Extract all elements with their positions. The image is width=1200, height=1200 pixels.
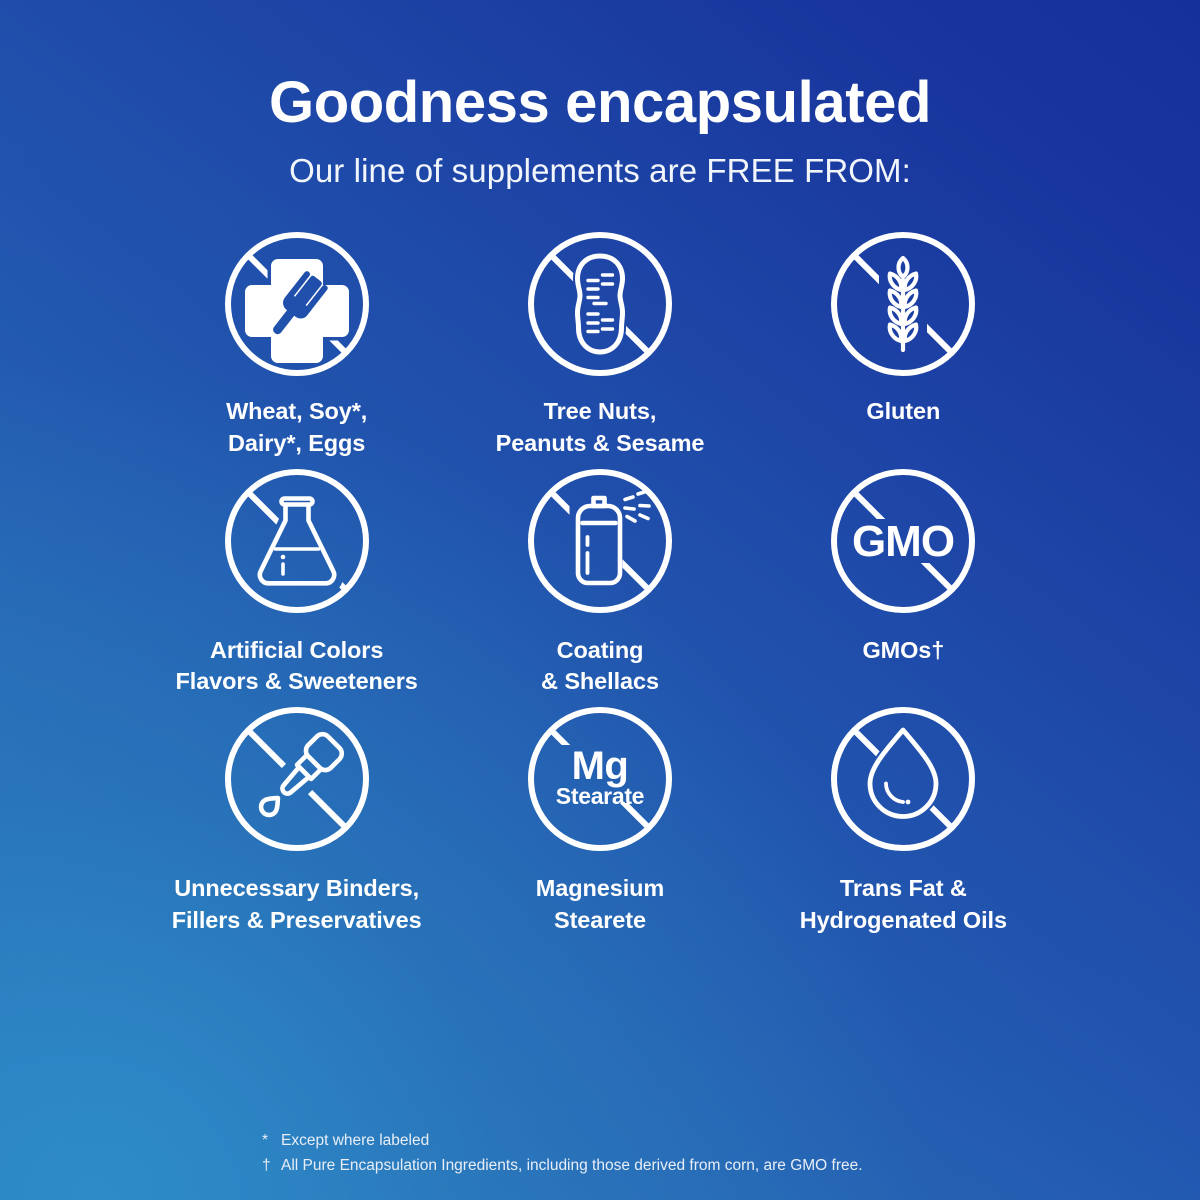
free-from-item-wheat-soy-dairy-eggs: Wheat, Soy*, Dairy*, Eggs [145,228,448,459]
header: Goodness encapsulated Our line of supple… [0,0,1200,190]
free-from-item-magnesium-stearate: Mg Stearate Magnesium Stearete [448,703,751,936]
free-from-item-label: Trans Fat & Hydrogenated Oils [800,873,1007,936]
free-from-item-label: Unnecessary Binders, Fillers & Preservat… [172,873,422,936]
free-from-item-label: Wheat, Soy*, Dairy*, Eggs [226,396,367,459]
footnotes: * Except where labeled † All Pure Encaps… [262,1128,863,1178]
free-from-item-coating-shellacs: Coating & Shellacs [448,465,751,698]
mg-stearate-text-icon: Mg Stearate [524,703,676,855]
free-from-item-unnecessary-binders-fillers-preservatives: Unnecessary Binders, Fillers & Preservat… [145,703,448,936]
free-from-item-label: GMOs† [862,635,944,666]
free-from-item-label: Tree Nuts, Peanuts & Sesame [496,396,705,459]
free-from-item-label: Magnesium Stearete [536,873,664,936]
gmo-icon-text: GMO [852,517,954,566]
footnote-text: Except where labeled [281,1128,429,1153]
cross-fork-icon [221,228,373,380]
flask-icon [221,465,373,617]
footnote-mark: * [262,1128,281,1153]
free-from-item-gluten: Gluten [752,228,1055,459]
page-title: Goodness encapsulated [0,72,1200,133]
wheat-stalk-icon [827,228,979,380]
free-from-item-label: Artificial Colors Flavors & Sweeteners [176,635,418,698]
footnote-row: * Except where labeled [262,1128,863,1153]
free-from-item-artificial-colors-flavors-sweeteners: Artificial Colors Flavors & Sweeteners [145,465,448,698]
spray-can-icon [524,465,676,617]
poster: Goodness encapsulated Our line of supple… [0,0,1200,1200]
gmo-text-icon: GMO [827,465,979,617]
mg-icon-text: Mg [572,744,629,788]
free-from-item-tree-nuts-peanuts-sesame: Tree Nuts, Peanuts & Sesame [448,228,751,459]
free-from-item-label: Coating & Shellacs [541,635,659,698]
oil-droplet-icon [827,703,979,855]
peanut-icon [524,228,676,380]
footnote-row: † All Pure Encapsulation Ingredients, in… [262,1153,863,1178]
free-from-item-trans-fat-hydrogenated-oils: Trans Fat & Hydrogenated Oils [752,703,1055,936]
stearate-icon-text: Stearate [556,783,644,809]
free-from-item-gmos: GMO GMOs† [752,465,1055,698]
free-from-grid: Wheat, Soy*, Dairy*, Eggs [145,228,1055,936]
dropper-icon [221,703,373,855]
free-from-item-label: Gluten [866,396,940,427]
page-subtitle: Our line of supplements are FREE FROM: [0,152,1200,190]
footnote-text: All Pure Encapsulation Ingredients, incl… [281,1153,863,1178]
footnote-mark: † [262,1153,281,1178]
